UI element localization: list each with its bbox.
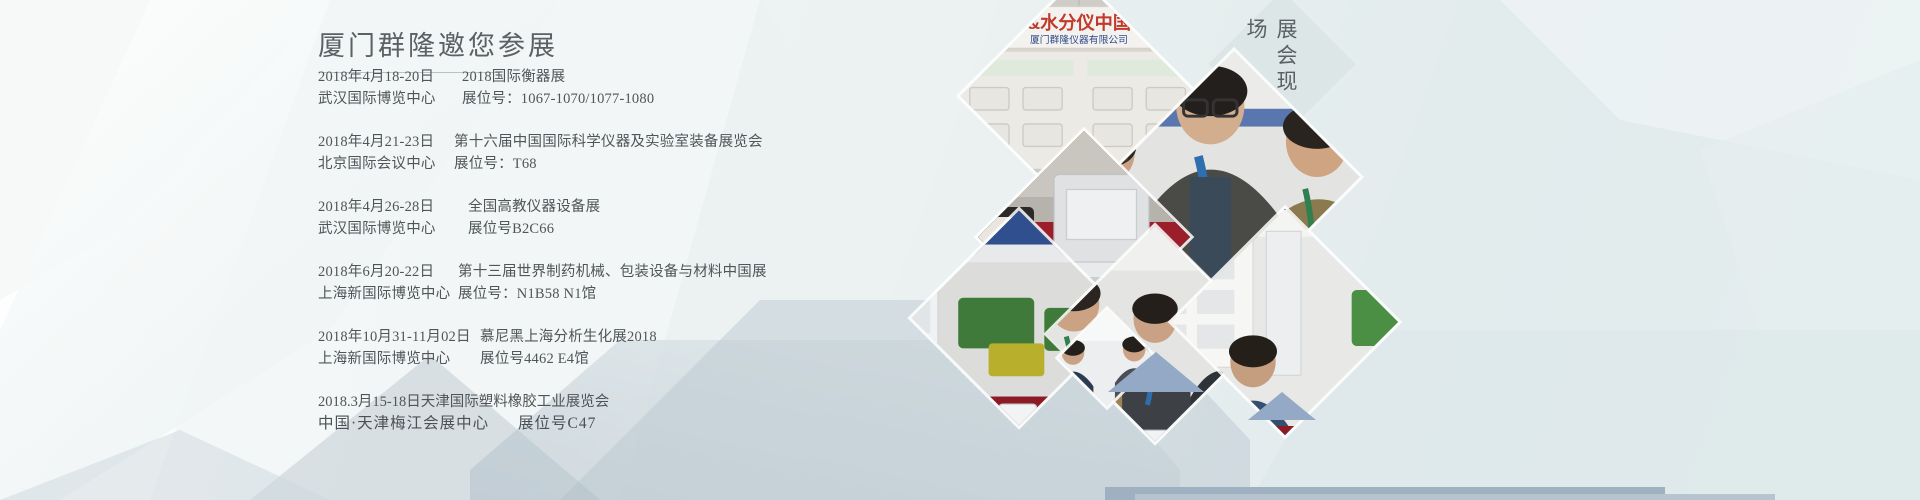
event-row-venue: 上海新国际博览中心 展位号4462 E4馆 [318, 348, 978, 370]
event-venue: 中国·天津梅江会展中心 [318, 413, 518, 435]
event-booth: 展位号：N1B58 N1馆 [440, 283, 596, 305]
event-date: 2018年10月31-11月02日 [318, 326, 468, 348]
event-row-venue: 北京国际会议中心 展位号：T68 [318, 153, 978, 175]
event-row-venue: 中国·天津梅江会展中心展位号C47 [318, 413, 978, 435]
event-booth: 展位号：T68 [440, 153, 537, 175]
exhibition-banner: 厦门群隆邀您参展 2018年4月18-20日 2018国际衡器展 武汉国际博览中… [0, 0, 1920, 500]
event-row-venue: 武汉国际博览中心 展位号：1067-1070/1077-1080 [318, 88, 978, 110]
event-venue: 武汉国际博览中心 [318, 218, 440, 240]
event-date: 2018年4月21-23日 [318, 131, 440, 153]
event-name: 第十六届中国国际科学仪器及实验室装备展览会 [440, 131, 763, 153]
event-name: 第十三届世界制药机械、包装设备与材料中国展 [440, 261, 767, 283]
event-row-date: 2018年4月21-23日 第十六届中国国际科学仪器及实验室装备展览会 [318, 131, 978, 153]
event-date: 2018年4月26-28日 [318, 196, 440, 218]
event-booth: 展位号C47 [518, 415, 596, 432]
event-booth: 展位号B2C66 [440, 218, 554, 240]
event-booth: 展位号：1067-1070/1077-1080 [440, 88, 654, 110]
event-row-date: 2018年6月20-22日 第十三届世界制药机械、包装设备与材料中国展 [318, 261, 978, 283]
event-row-venue: 上海新国际博览中心 展位号：N1B58 N1馆 [318, 283, 978, 305]
event-venue: 上海新国际博览中心 [318, 348, 468, 370]
event-name: 2018国际衡器展 [440, 66, 565, 88]
event-item: 2018年4月18-20日 2018国际衡器展 武汉国际博览中心 展位号：106… [318, 66, 978, 110]
event-name: 慕尼黑上海分析生化展2018 [468, 326, 657, 348]
event-date: 2018年4月18-20日 [318, 66, 440, 88]
event-row-date: 2018年4月18-20日 2018国际衡器展 [318, 66, 978, 88]
decor-triangle-left [1108, 352, 1204, 392]
photo-collage: 密度计&水分仪中国供应商 厦门群隆仪器有限公司 [1015, 0, 1435, 500]
event-item: 2018年6月20-22日 第十三届世界制药机械、包装设备与材料中国展 上海新国… [318, 261, 978, 305]
event-item: 2018年10月31-11月02日 慕尼黑上海分析生化展2018 上海新国际博览… [318, 326, 978, 370]
event-item: 2018.3月15-18日天津国际塑料橡胶工业展览会 中国·天津梅江会展中心展位… [318, 391, 978, 435]
decor-band-secondary [1135, 494, 1775, 500]
event-date: 2018年6月20-22日 [318, 261, 440, 283]
event-row-date: 2018年10月31-11月02日 慕尼黑上海分析生化展2018 [318, 326, 978, 348]
event-venue: 武汉国际博览中心 [318, 88, 440, 110]
event-row-date: 2018年4月26-28日 全国高教仪器设备展 [318, 196, 978, 218]
decor-triangle-right [1248, 392, 1316, 420]
event-venue: 上海新国际博览中心 [318, 283, 440, 305]
event-list: 2018年4月18-20日 2018国际衡器展 武汉国际博览中心 展位号：106… [318, 66, 978, 435]
event-row-date: 2018.3月15-18日天津国际塑料橡胶工业展览会 [318, 391, 978, 413]
event-item: 2018年4月21-23日 第十六届中国国际科学仪器及实验室装备展览会 北京国际… [318, 131, 978, 175]
event-row-venue: 武汉国际博览中心 展位号B2C66 [318, 218, 978, 240]
event-date: 2018.3月15-18日天津国际塑料橡胶工业展览会 [318, 394, 609, 410]
event-venue: 北京国际会议中心 [318, 153, 440, 175]
event-list-panel: 厦门群隆邀您参展 2018年4月18-20日 2018国际衡器展 武汉国际博览中… [0, 0, 1000, 500]
event-booth: 展位号4462 E4馆 [468, 348, 589, 370]
page-title: 厦门群隆邀您参展 [318, 24, 738, 63]
event-item: 2018年4月26-28日 全国高教仪器设备展 武汉国际博览中心 展位号B2C6… [318, 196, 978, 240]
event-name: 全国高教仪器设备展 [440, 196, 600, 218]
svg-text:厦门群隆仪器有限公司: 厦门群隆仪器有限公司 [1030, 33, 1128, 46]
